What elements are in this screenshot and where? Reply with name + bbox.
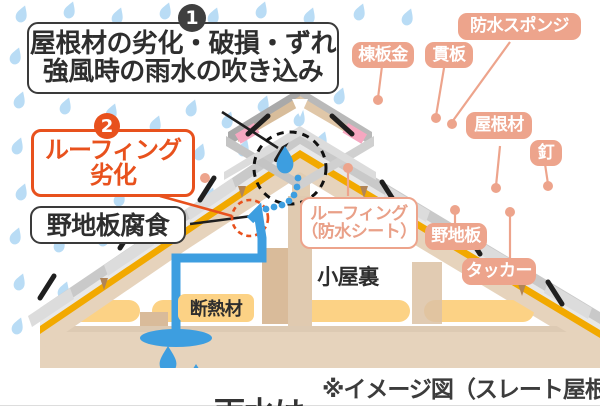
badge-1: 1	[178, 4, 206, 32]
label-waterproof-sponge: 防水スポンジ	[458, 13, 581, 40]
label-tacker-text: タッカー	[466, 262, 532, 280]
label-roofing-sheet-line2: （防水シート）	[301, 223, 417, 241]
title-callout-line2: 強風時の雨水の吹き込み	[43, 58, 324, 86]
title-callout: 屋根材の劣化・破損・ずれ 強風時の雨水の吹き込み	[27, 22, 339, 94]
diagram-canvas: 1 屋根材の劣化・破損・ずれ 強風時の雨水の吹き込み 2 ルーフィング 劣化 野…	[0, 0, 600, 406]
label-mune-bankin: 棟板金	[352, 42, 414, 68]
label-nukiita-text: 貫板	[433, 46, 466, 64]
label-insulation: 断熱材	[178, 294, 254, 322]
label-roofing-sheet: ルーフィング （防水シート）	[300, 197, 418, 249]
image-caption-text: ※イメージ図（スレート屋根）	[322, 377, 600, 403]
roofing-callout-line2: 劣化	[90, 163, 136, 188]
label-insulation-text: 断熱材	[190, 295, 243, 321]
label-attic: 小屋裏	[312, 264, 384, 290]
label-nail: 釘	[530, 140, 562, 166]
label-roof-material-text: 屋根材	[474, 116, 524, 134]
label-sheathing-rot: 野地板腐食	[30, 206, 186, 244]
label-sheathing-board: 野地板	[425, 223, 487, 250]
image-caption: ※イメージ図（スレート屋根）	[322, 370, 600, 404]
indoor-leak-text: 雨水は 室内へ	[214, 336, 304, 406]
label-roof-material: 屋根材	[466, 112, 532, 139]
indoor-leak-line1: 雨水は	[214, 399, 304, 406]
roofing-callout-line1: ルーフィング	[45, 138, 181, 163]
roofing-callout: ルーフィング 劣化	[31, 129, 195, 197]
badge-2-number: 2	[101, 116, 114, 137]
label-tacker: タッカー	[462, 258, 536, 285]
label-mune-bankin-text: 棟板金	[358, 46, 408, 64]
badge-2: 2	[94, 113, 120, 139]
label-nail-text: 釘	[538, 144, 555, 162]
label-nukiita: 貫板	[425, 42, 473, 68]
ceiling-water-pool	[140, 329, 212, 347]
label-roofing-sheet-line1: ルーフィング	[310, 205, 408, 223]
title-callout-line1: 屋根材の劣化・破損・ずれ	[30, 30, 336, 58]
label-sheathing-board-text: 野地板	[431, 227, 481, 245]
label-waterproof-sponge-text: 防水スポンジ	[470, 17, 569, 35]
label-attic-text: 小屋裏	[317, 266, 379, 289]
label-sheathing-rot-text: 野地板腐食	[47, 212, 170, 239]
badge-1-number: 1	[185, 7, 198, 29]
